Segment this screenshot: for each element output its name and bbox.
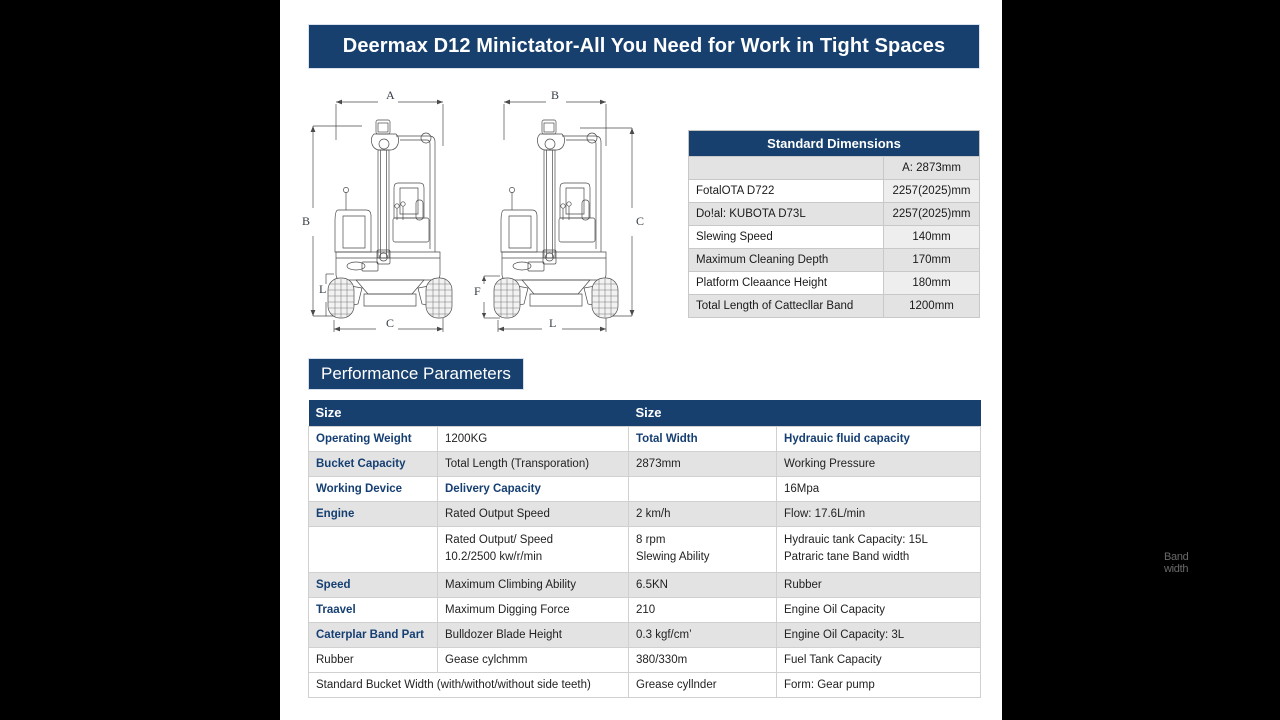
cell-c2: Bulldozer Blade Height (438, 623, 629, 648)
cell-c4: Hydrauic fluid capacity (777, 426, 981, 451)
table-row: Standard Bucket Width (with/withot/witho… (309, 673, 981, 698)
excavator-front-view-svg (300, 88, 480, 338)
table-row: Operating Weight 1200KG Total Width Hydr… (309, 426, 981, 451)
dim-label-b: B (302, 214, 310, 229)
cell-c1: Caterplar Band Part (309, 623, 438, 648)
row-value: A: 2873mm (884, 157, 980, 180)
cell-c1: Traavel (309, 598, 438, 623)
table-row: Traavel Maximum Digging Force 210 Engine… (309, 598, 981, 623)
table-row: Slewing Speed 140mm (689, 226, 980, 249)
document-title-banner: Deermax D12 Minictator-All You Need for … (308, 24, 980, 69)
cell-c1: Bucket Capacity (309, 451, 438, 476)
table-row: Caterplar Band Part Bulldozer Blade Heig… (309, 623, 981, 648)
page-title: Deermax D12 Minictator-All You Need for … (343, 35, 945, 58)
cell-c3: 380/330m (629, 648, 777, 673)
cell-c2: Delivery Capacity (438, 476, 629, 501)
cell-c3: Grease cyllnder (629, 673, 777, 698)
cell-c2: Rated Output/ Speed10.2/2500 kw/r/min (438, 526, 629, 573)
cell-c2: 1200KG (438, 426, 629, 451)
cell-c2: Rated Output Speed (438, 501, 629, 526)
excavator-drawing-right: B C L F (470, 88, 650, 338)
technical-drawings: A B C L (300, 88, 670, 338)
cell-c3: 0.3 kgf/cm’ (629, 623, 777, 648)
row-label: Slewing Speed (689, 226, 884, 249)
cell-c4: Flow: 17.6L/min (777, 501, 981, 526)
cell-c1 (309, 526, 438, 573)
table-header-row: Size Size (309, 400, 981, 426)
table-row: A: 2873mm (689, 157, 980, 180)
cell-c2: Gease cylchmm (438, 648, 629, 673)
cell-c1: Rubber (309, 648, 438, 673)
cell-c2: Maximum Climbing Ability (438, 573, 629, 598)
cell-c4: Fuel Tank Capacity (777, 648, 981, 673)
row-label: FotalOTA D722 (689, 180, 884, 203)
cell-c3: Total Width (629, 426, 777, 451)
row-label (689, 157, 884, 180)
dim-label-c-right: C (636, 214, 644, 229)
table-row: Engine Rated Output Speed 2 km/h Flow: 1… (309, 501, 981, 526)
cell-c4: Form: Gear pump (777, 673, 981, 698)
cell-c3: 2 km/h (629, 501, 777, 526)
cell-c4: Rubber (777, 573, 981, 598)
column-header-size-2: Size (629, 400, 981, 426)
column-header-size-1: Size (309, 400, 629, 426)
row-label: Platform Cleaance Height (689, 272, 884, 295)
cell-c4: Engine Oil Capacity (777, 598, 981, 623)
row-label: Total Length of Cattecllar Band (689, 295, 884, 318)
table-row: Bucket Capacity Total Length (Transporat… (309, 451, 981, 476)
cell-c4: Working Pressure (777, 451, 981, 476)
row-value: 140mm (884, 226, 980, 249)
table-row: Rated Output/ Speed10.2/2500 kw/r/min 8 … (309, 526, 981, 573)
cell-c3: 2873mm (629, 451, 777, 476)
excavator-drawing-left: A B C L (300, 88, 480, 338)
performance-parameters-table: Size Size Operating Weight 1200KG Total … (308, 400, 981, 698)
performance-parameters-title: Performance Parameters (321, 364, 511, 384)
dim-label-l-bottom: L (549, 316, 556, 331)
cell-c3: 6.5KN (629, 573, 777, 598)
table-row: Platform Cleaance Height 180mm (689, 272, 980, 295)
row-value: 2257(2025)mm (884, 180, 980, 203)
table-row: Maximum Cleaning Depth 170mm (689, 249, 980, 272)
cell-c1: Working Device (309, 476, 438, 501)
cell-c3 (629, 476, 777, 501)
screenshot-stage: Deermax D12 Minictator-All You Need for … (0, 0, 1280, 720)
cell-c1-merged: Standard Bucket Width (with/withot/witho… (309, 673, 629, 698)
standard-dimensions-title: Standard Dimensions (689, 131, 980, 157)
row-label: Do!al: KUBOTA D73L (689, 203, 884, 226)
cell-c2: Total Length (Transporation) (438, 451, 629, 476)
excavator-front-view-svg-2 (470, 88, 650, 338)
table-row: Total Length of Cattecllar Band 1200mm (689, 295, 980, 318)
row-value: 170mm (884, 249, 980, 272)
table-row: Do!al: KUBOTA D73L 2257(2025)mm (689, 203, 980, 226)
dim-label-b-top: B (551, 88, 559, 103)
cell-c1: Speed (309, 573, 438, 598)
cell-c1: Operating Weight (309, 426, 438, 451)
dim-label-f: F (474, 284, 481, 299)
table-header-row: Standard Dimensions (689, 131, 980, 157)
cell-c2: Maximum Digging Force (438, 598, 629, 623)
table-row: Working Device Delivery Capacity 16Mpa (309, 476, 981, 501)
cell-c4: 16Mpa (777, 476, 981, 501)
cell-c3: 210 (629, 598, 777, 623)
dim-label-c: C (386, 316, 394, 331)
document-page: Deermax D12 Minictator-All You Need for … (280, 0, 1002, 720)
cell-c4: Engine Oil Capacity: 3L (777, 623, 981, 648)
dim-label-l: L (319, 282, 326, 297)
table-row: FotalOTA D722 2257(2025)mm (689, 180, 980, 203)
watermark-overlay: Band width (1164, 551, 1189, 575)
row-value: 1200mm (884, 295, 980, 318)
performance-parameters-banner: Performance Parameters (308, 358, 524, 390)
table-row: Rubber Gease cylchmm 380/330m Fuel Tank … (309, 648, 981, 673)
cell-c4: Hydrauic tank Capacity: 15LPatraric tane… (777, 526, 981, 573)
cell-c1: Engine (309, 501, 438, 526)
row-label: Maximum Cleaning Depth (689, 249, 884, 272)
standard-dimensions-table: Standard Dimensions A: 2873mm FotalOTA D… (688, 130, 980, 318)
row-value: 2257(2025)mm (884, 203, 980, 226)
cell-c3: 8 rpmSlewing Ability (629, 526, 777, 573)
table-row: Speed Maximum Climbing Ability 6.5KN Rub… (309, 573, 981, 598)
dim-label-a: A (386, 88, 395, 103)
row-value: 180mm (884, 272, 980, 295)
